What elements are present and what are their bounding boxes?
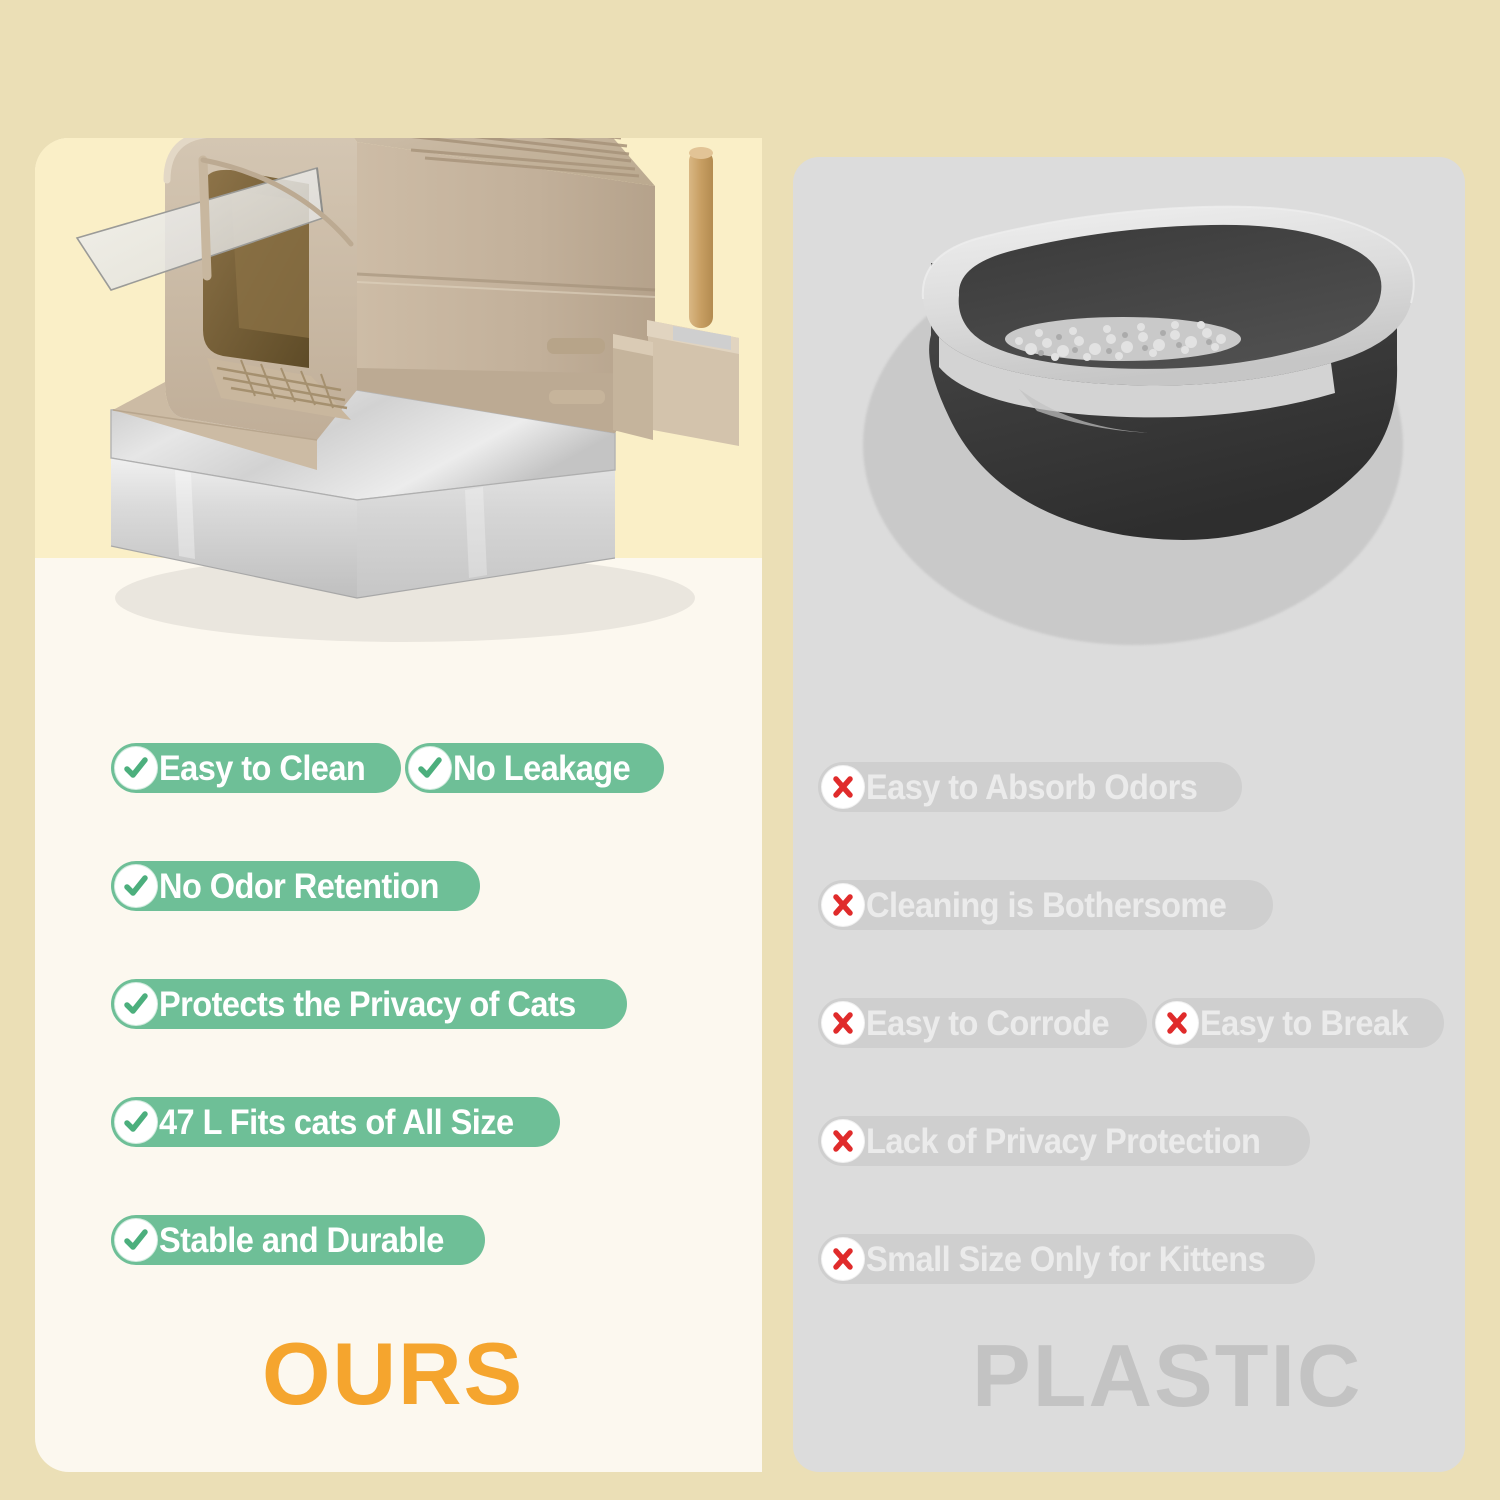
plastic-product-image (823, 167, 1443, 607)
feature-label: Easy to Corrode (866, 1006, 1109, 1041)
feature-label: Cleaning is Bothersome (866, 888, 1226, 923)
feature-label: Lack of Privacy Protection (866, 1124, 1260, 1159)
check-circle-icon (115, 865, 157, 907)
feature-pill-plastic-1[interactable]: Easy to Absorb Odors (818, 762, 1242, 812)
feature-label: No Leakage (453, 751, 630, 786)
feature-label: No Odor Retention (159, 869, 439, 904)
check-circle-icon (115, 1101, 157, 1143)
feature-label: Protects the Privacy of Cats (159, 987, 576, 1022)
feature-pill-ours-6[interactable]: Stable and Durable (111, 1215, 485, 1265)
check-circle-icon (115, 747, 157, 789)
cross-circle-icon (822, 766, 864, 808)
feature-pill-plastic-5[interactable]: Lack of Privacy Protection (818, 1116, 1310, 1166)
ours-product-image (55, 138, 762, 658)
cross-circle-icon (822, 884, 864, 926)
plastic-feature-list: Easy to Absorb Odors Cleaning is Bothers… (818, 762, 1465, 1284)
check-circle-icon (409, 747, 451, 789)
ours-panel: Easy to Clean No Leakage No Odor Retenti… (35, 138, 762, 1472)
feature-pill-ours-5[interactable]: 47 L Fits cats of All Size (111, 1097, 560, 1147)
feature-pill-plastic-2[interactable]: Cleaning is Bothersome (818, 880, 1273, 930)
feature-label: 47 L Fits cats of All Size (159, 1105, 514, 1140)
cross-circle-icon (822, 1120, 864, 1162)
ours-title: OURS (262, 1330, 524, 1418)
feature-pill-ours-4[interactable]: Protects the Privacy of Cats (111, 979, 627, 1029)
check-circle-icon (115, 1219, 157, 1261)
feature-pill-ours-1[interactable]: Easy to Clean (111, 743, 401, 793)
plastic-panel: Easy to Absorb Odors Cleaning is Bothers… (793, 157, 1465, 1472)
ours-feature-list: Easy to Clean No Leakage No Odor Retenti… (111, 743, 762, 1265)
cross-circle-icon (822, 1002, 864, 1044)
feature-pill-plastic-4[interactable]: Easy to Break (1152, 998, 1444, 1048)
feature-label: Stable and Durable (159, 1223, 444, 1258)
comparison-infographic: Easy to Clean No Leakage No Odor Retenti… (0, 0, 1500, 1500)
feature-pill-plastic-3[interactable]: Easy to Corrode (818, 998, 1147, 1048)
feature-label: Easy to Clean (159, 751, 365, 786)
feature-pill-ours-2[interactable]: No Leakage (405, 743, 663, 793)
feature-label: Small Size Only for Kittens (866, 1242, 1265, 1277)
feature-pill-plastic-6[interactable]: Small Size Only for Kittens (818, 1234, 1315, 1284)
feature-label: Easy to Absorb Odors (866, 770, 1197, 805)
cross-circle-icon (1156, 1002, 1198, 1044)
cross-circle-icon (822, 1238, 864, 1280)
plastic-title: PLASTIC (972, 1332, 1362, 1420)
check-circle-icon (115, 983, 157, 1025)
feature-pill-ours-3[interactable]: No Odor Retention (111, 861, 480, 911)
feature-label: Easy to Break (1200, 1006, 1408, 1041)
